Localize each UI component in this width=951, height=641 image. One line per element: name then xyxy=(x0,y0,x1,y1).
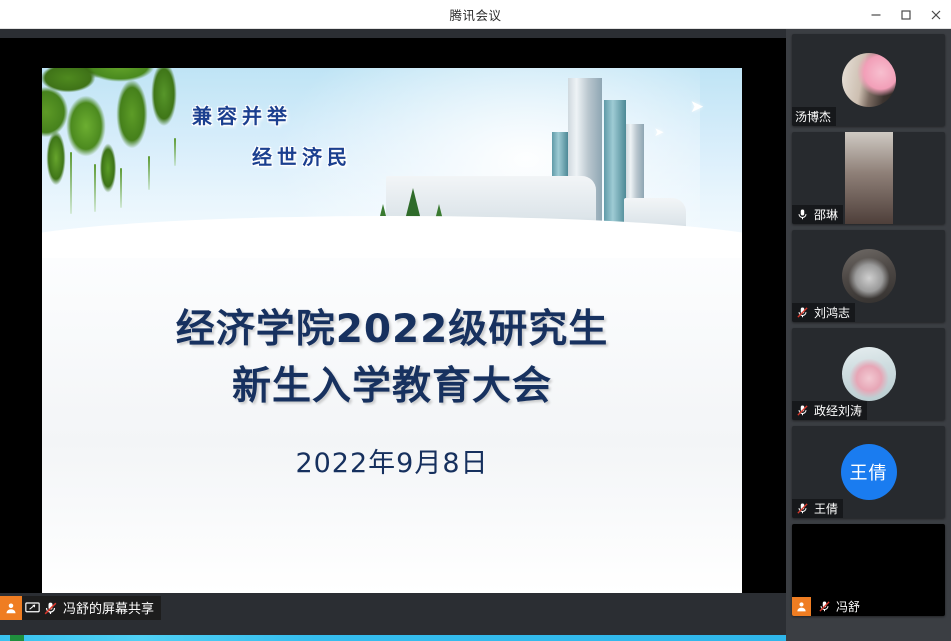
slide-title: 经济学院2022级研究生 新生入学教育大会 xyxy=(176,302,609,415)
mic-muted-icon-wrap xyxy=(792,502,809,515)
maximize-button[interactable] xyxy=(891,0,921,29)
participant-name: 王倩 xyxy=(811,503,838,515)
participant-tile[interactable]: 刘鸿志 xyxy=(792,230,945,322)
participant-tile[interactable]: 汤博杰 xyxy=(792,34,945,126)
screen-share-label: 冯舒的屏幕共享 xyxy=(0,596,161,620)
slide-date: 2022年9月8日 xyxy=(295,441,488,480)
mic-muted-icon-wrap xyxy=(43,601,58,616)
mic-muted-icon xyxy=(796,502,809,515)
screen-share-icon-wrap xyxy=(25,601,40,615)
minimize-button[interactable] xyxy=(861,0,891,29)
participant-nameplate: 邵琳 xyxy=(792,205,843,224)
shared-slide: ➤ ➤ 兼容并举 经世济民 经济学院2022级研究生 新生入学教育大会 2022… xyxy=(42,68,742,593)
close-icon xyxy=(930,9,942,21)
person-icon xyxy=(796,601,807,612)
willow-strand xyxy=(148,156,150,190)
host-badge xyxy=(792,597,811,616)
mic-unmuted-icon xyxy=(796,208,809,221)
maximize-icon xyxy=(900,9,912,21)
participant-nameplate: 刘鸿志 xyxy=(792,303,855,322)
shared-screen-stage[interactable]: ➤ ➤ 兼容并举 经世济民 经济学院2022级研究生 新生入学教育大会 2022… xyxy=(0,29,786,641)
participant-tile[interactable]: 邵琳 xyxy=(792,132,945,224)
stage-top-strip xyxy=(0,29,786,38)
motto-line-2: 经世济民 xyxy=(252,141,352,170)
tencent-meeting-window: 腾讯会议 xyxy=(0,0,951,641)
participant-name: 冯舒 xyxy=(833,601,860,613)
tower-glass xyxy=(604,100,626,228)
mic-unmuted-icon-wrap xyxy=(792,208,809,221)
avatar xyxy=(842,249,896,303)
slide-banner-image: ➤ ➤ 兼容并举 经世济民 xyxy=(42,68,742,258)
mic-muted-icon xyxy=(796,404,809,417)
mic-muted-icon-wrap xyxy=(792,306,809,319)
host-badge xyxy=(0,596,22,620)
mic-muted-icon-wrap xyxy=(813,600,831,613)
participant-name: 邵琳 xyxy=(811,209,838,221)
app-title: 腾讯会议 xyxy=(449,5,501,24)
participant-tile[interactable]: 王倩 王倩 xyxy=(792,426,945,518)
participant-nameplate: 冯舒 xyxy=(792,597,865,616)
participant-video xyxy=(845,132,893,224)
mic-muted-icon xyxy=(818,600,831,613)
mic-muted-icon xyxy=(796,306,809,319)
minimize-icon xyxy=(870,9,882,21)
participant-tile[interactable]: 政经刘涛 xyxy=(792,328,945,420)
participant-nameplate: 政经刘涛 xyxy=(792,401,867,420)
stage-bottom-bar: 冯舒的屏幕共享 xyxy=(0,593,786,641)
avatar xyxy=(842,53,896,107)
mic-muted-icon xyxy=(43,601,58,616)
screen-share-icon xyxy=(25,601,40,615)
close-button[interactable] xyxy=(921,0,951,29)
slide-motto: 兼容并举 经世济民 xyxy=(192,100,352,170)
window-titlebar: 腾讯会议 xyxy=(0,0,951,29)
willow-strand xyxy=(120,168,122,208)
slide-body: 经济学院2022级研究生 新生入学教育大会 2022年9月8日 xyxy=(42,258,742,593)
banner-swoop xyxy=(42,216,742,258)
willow-strand xyxy=(174,138,176,166)
screen-share-owner-label: 冯舒的屏幕共享 xyxy=(61,602,154,615)
taskbar-sliver xyxy=(0,635,786,641)
avatar-initials: 王倩 xyxy=(850,459,888,485)
participant-tile[interactable]: 冯舒 xyxy=(792,524,945,616)
participant-name: 汤博杰 xyxy=(792,111,831,123)
person-icon xyxy=(5,602,17,614)
slide-title-line-2: 新生入学教育大会 xyxy=(176,359,609,416)
participant-strip[interactable]: 汤博杰 邵琳 xyxy=(786,29,951,641)
willow-strand xyxy=(94,164,96,212)
willow-strand xyxy=(70,152,72,214)
dove-icon: ➤ xyxy=(654,126,664,138)
participant-name: 政经刘涛 xyxy=(811,405,862,417)
window-controls xyxy=(861,0,951,29)
taskbar-icon xyxy=(10,635,24,641)
participant-name: 刘鸿志 xyxy=(811,307,850,319)
participant-nameplate: 王倩 xyxy=(792,499,843,518)
avatar: 王倩 xyxy=(841,444,897,500)
slide-title-line-1: 经济学院2022级研究生 xyxy=(176,302,609,359)
mic-muted-icon-wrap xyxy=(792,404,809,417)
avatar xyxy=(842,347,896,401)
participant-nameplate: 汤博杰 xyxy=(792,107,836,126)
motto-line-1: 兼容并举 xyxy=(192,100,352,129)
dove-icon: ➤ xyxy=(690,98,704,115)
